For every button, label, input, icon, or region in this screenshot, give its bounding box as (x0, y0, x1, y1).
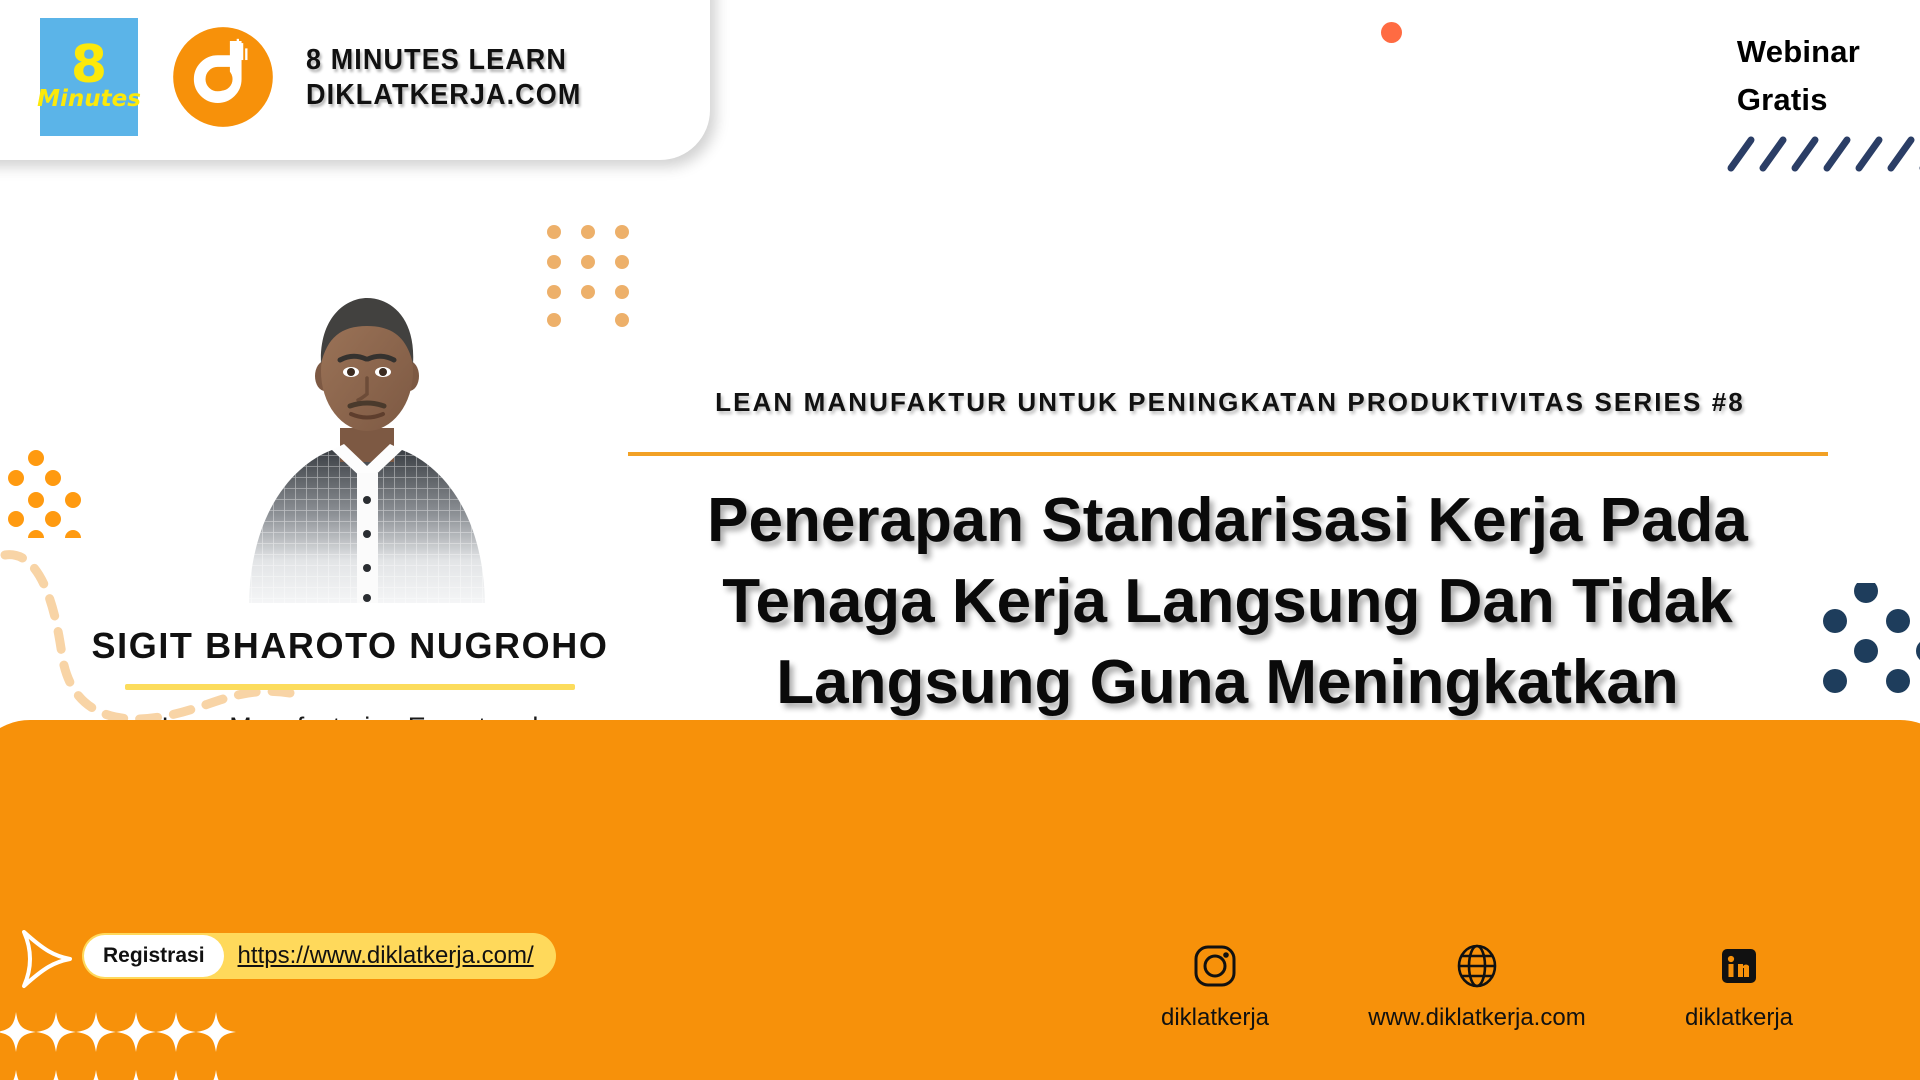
webinar-poster: Webinar Gratis 8 Minutes (0, 0, 1920, 1080)
webinar-gratis-label: Webinar Gratis (1737, 28, 1860, 124)
speaker-photo (207, 268, 527, 603)
brand-header-card: 8 Minutes 8 MINUTES LEARN DIKLATKERJA.CO… (0, 0, 710, 160)
series-subtitle: LEAN MANUFAKTUR UNTUK PENINGKATAN PRODUK… (630, 387, 1830, 418)
diagonal-stripes-decoration (1725, 134, 1920, 174)
registration-label: Registrasi (84, 935, 224, 977)
social-item-instagram[interactable]: diklatkerja (1120, 940, 1310, 1032)
title-line: Tenaga Kerja Langsung Dan Tidak (620, 561, 1835, 642)
linkedin-icon (1716, 940, 1762, 992)
brand-name: 8 MINUTES LEARN DIKLATKERJA.COM (306, 43, 602, 114)
badge-word: Minutes (37, 88, 141, 111)
title-line: Langsung Guna Meningkatkan (620, 642, 1835, 723)
social-links: diklatkerja www.diklatkerja.com (1120, 940, 1834, 1032)
peach-dots-decoration (540, 222, 650, 332)
social-label: diklatkerja (1685, 1004, 1793, 1032)
brand-line-1: 8 MINUTES LEARN (306, 43, 581, 78)
send-arrow-icon (18, 928, 76, 990)
diklatkerja-d-logo-icon (170, 24, 276, 130)
social-item-website[interactable]: www.diklatkerja.com (1382, 940, 1572, 1032)
stars-decoration (0, 1010, 244, 1080)
subtitle-divider (628, 452, 1828, 456)
badge-number: 8 (71, 43, 107, 87)
webinar-label-line2: Gratis (1737, 76, 1860, 124)
orange-dots-decoration (8, 448, 88, 538)
social-item-linkedin[interactable]: diklatkerja (1644, 940, 1834, 1032)
webinar-label-line1: Webinar (1737, 28, 1860, 76)
title-line: Penerapan Standarisasi Kerja Pada (620, 480, 1835, 561)
social-label: www.diklatkerja.com (1368, 1004, 1585, 1032)
registration-link-pill[interactable]: Registrasi https://www.diklatkerja.com/ (82, 933, 556, 979)
brand-line-2: DIKLATKERJA.COM (306, 78, 581, 113)
social-label: diklatkerja (1161, 1004, 1269, 1032)
registration-url[interactable]: https://www.diklatkerja.com/ (238, 942, 534, 970)
speaker-name: SIGIT BHAROTO NUGROHO (40, 625, 660, 667)
eight-minutes-badge: 8 Minutes (40, 18, 138, 136)
instagram-icon (1192, 940, 1238, 992)
globe-icon (1454, 940, 1500, 992)
speaker-divider (125, 684, 575, 690)
orange-dot-decoration (1381, 22, 1402, 43)
